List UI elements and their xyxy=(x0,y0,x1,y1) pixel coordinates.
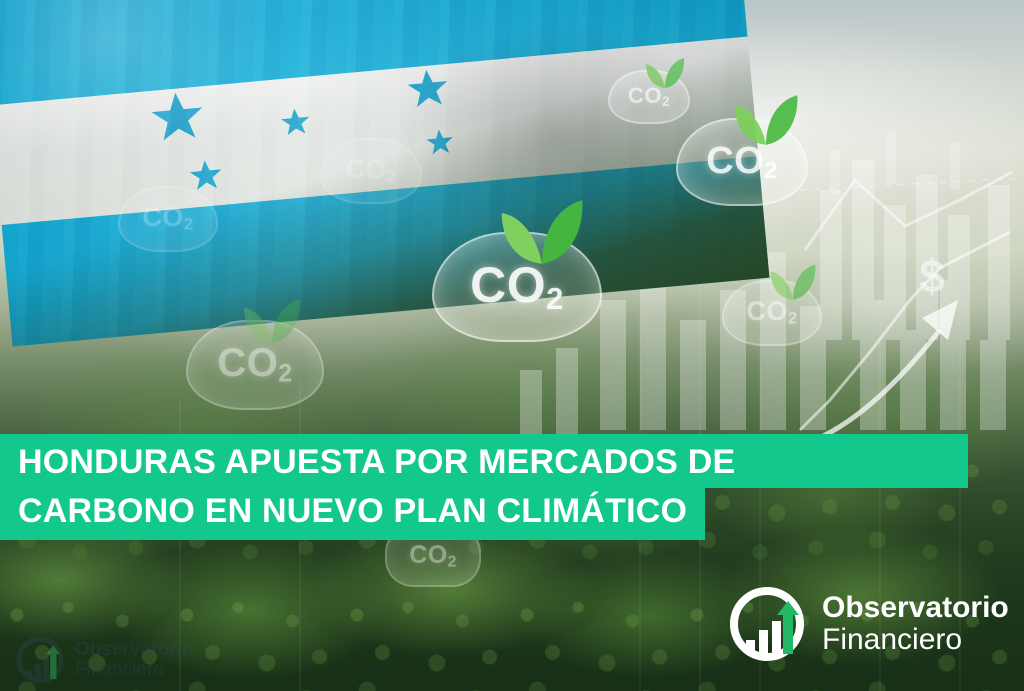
headline-banner: HONDURAS APUESTA POR MERCADOS DE CARBONO… xyxy=(0,434,1024,540)
co2-badge-left-high: CO2 xyxy=(118,186,218,252)
co2-badge-large-right: CO2 xyxy=(676,118,808,206)
co2-badge-small-top: CO2 xyxy=(608,70,690,124)
headline-line-2: CARBONO EN NUEVO PLAN CLIMÁTICO xyxy=(0,486,705,540)
leaf-icon xyxy=(730,92,802,148)
leaf-icon xyxy=(240,296,304,346)
watermark-line-2: Financiero xyxy=(75,660,193,680)
co2-badge-flag-mid: CO2 xyxy=(320,138,422,204)
headline-word: DE xyxy=(688,443,736,481)
brand-logo[interactable]: Observatorio Financiero xyxy=(726,583,1009,665)
co2-badge-mid-right: CO2 xyxy=(722,280,822,346)
leaf-icon xyxy=(644,56,686,90)
co2-badge-large-center: CO2 xyxy=(432,232,602,342)
headline-word: APUESTA xyxy=(224,443,384,481)
headline-word: HONDURAS xyxy=(18,443,216,481)
hero-image: $ xyxy=(0,0,1024,691)
brand-name-line-1: Observatorio xyxy=(822,592,1009,624)
brand-name-line-2: Financiero xyxy=(822,624,1009,656)
leaf-icon xyxy=(768,262,818,302)
co2-badge-left-low: CO2 xyxy=(186,320,324,410)
watermark-line-1: Observatorio xyxy=(75,640,193,660)
watermark-logo: Observatorio Financiero xyxy=(14,634,193,686)
watermark-brand-name: Observatorio Financiero xyxy=(75,640,193,680)
headline-line-1: HONDURAS APUESTA POR MERCADOS DE xyxy=(0,434,968,488)
headline-word: MERCADOS xyxy=(478,443,678,481)
headline-word: POR xyxy=(394,443,468,481)
circle-bar-chart-up-arrow-icon xyxy=(726,583,808,665)
watermark-circle-bar-chart-up-arrow-icon xyxy=(14,634,66,686)
leaf-icon xyxy=(496,196,588,268)
brand-name: Observatorio Financiero xyxy=(822,592,1009,656)
